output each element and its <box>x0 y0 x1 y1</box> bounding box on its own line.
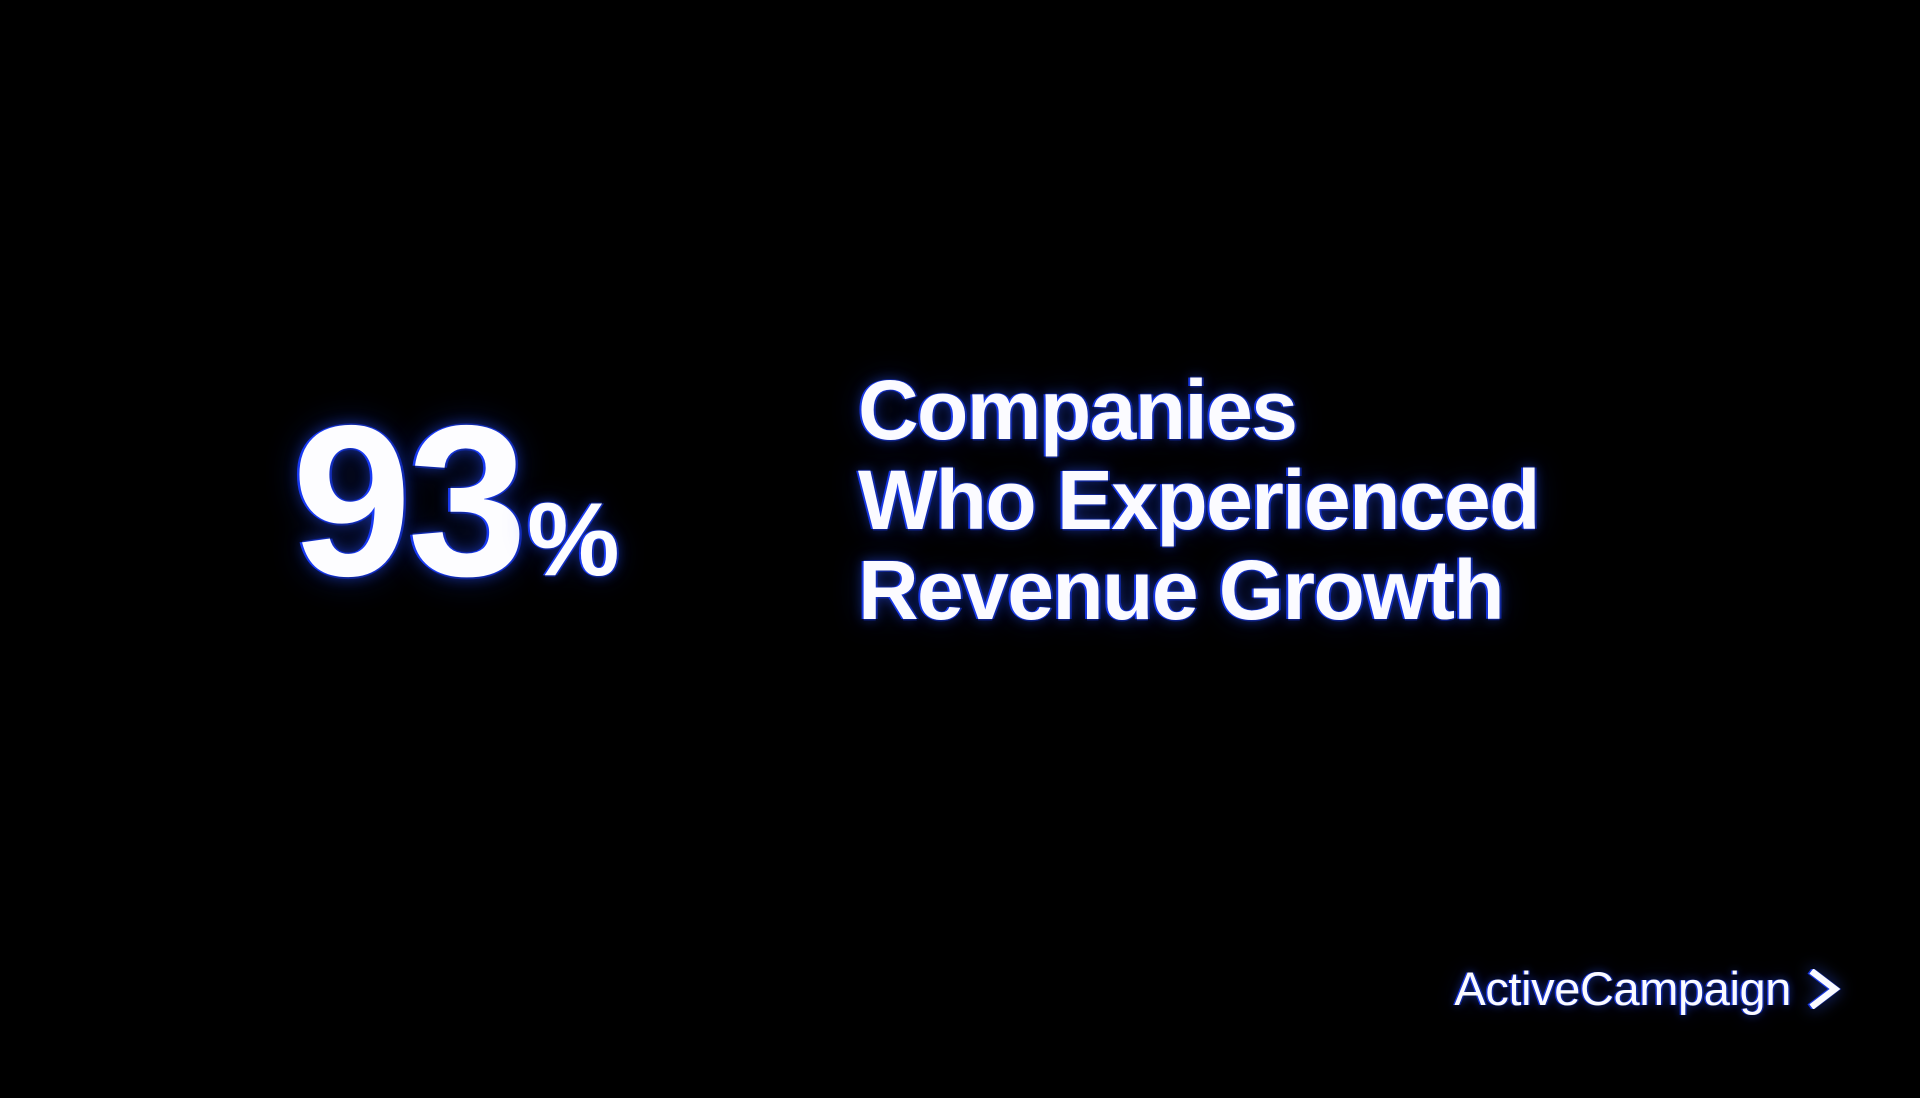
headline-line-2: Who Experienced <box>858 456 1758 546</box>
headline-line-3: Revenue Growth <box>858 546 1758 636</box>
headline-line-1: Companies <box>858 366 1758 456</box>
chevron-right-icon <box>1808 969 1842 1009</box>
statistic-block: 93 % <box>292 402 618 600</box>
statistic-unit: % <box>527 488 617 592</box>
headline-block: Companies Who Experienced Revenue Growth <box>858 366 1758 636</box>
statistic-value: 93 <box>292 402 523 600</box>
stat-slide: 93 % Companies Who Experienced Revenue G… <box>0 0 1920 1098</box>
brand-wordmark: ActiveCampaign <box>1454 961 1791 1016</box>
brand-logo: ActiveCampaign <box>1454 961 1842 1016</box>
